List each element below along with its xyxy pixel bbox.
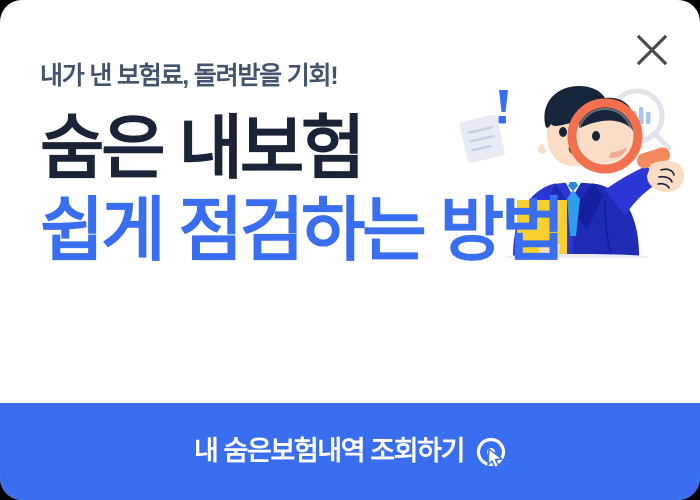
headline-line-2: 쉽게 점검하는 방법 — [40, 195, 562, 265]
close-button[interactable] — [632, 30, 672, 70]
eyebrow-text: 내가 낸 보험료, 돌려받을 기회! — [40, 64, 562, 89]
person-right-hand — [647, 161, 684, 192]
click-target-icon — [476, 437, 506, 467]
cta-button[interactable]: 내 숨은보험내역 조회하기 — [0, 403, 700, 500]
headline-line-1: 숨은 내보험 — [40, 113, 562, 183]
promo-banner: 내가 낸 보험료, 돌려받을 기회! 숨은 내보험 쉽게 점검하는 방법 내 숨… — [0, 0, 700, 500]
copy-block: 내가 낸 보험료, 돌려받을 기회! 숨은 내보험 쉽게 점검하는 방법 — [40, 64, 562, 265]
close-icon — [632, 30, 672, 70]
cta-label: 내 숨은보험내역 조회하기 — [194, 438, 464, 465]
